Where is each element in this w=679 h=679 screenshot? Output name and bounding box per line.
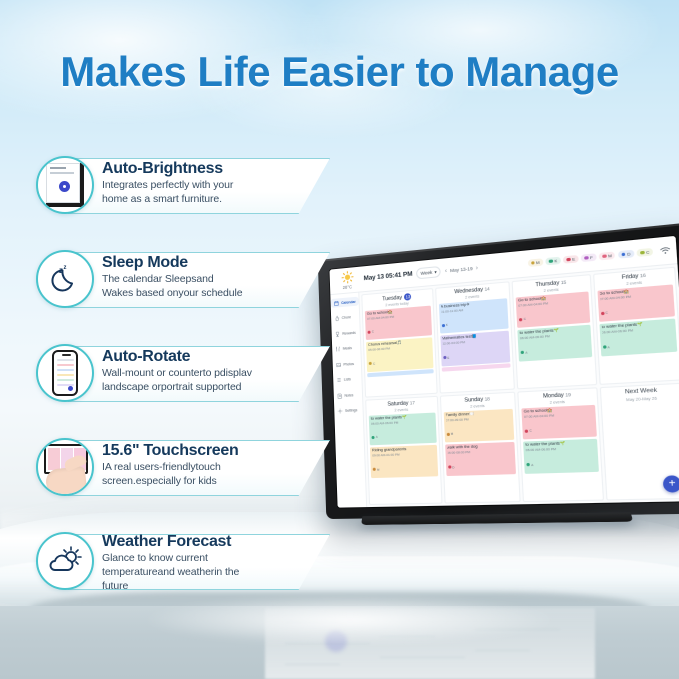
svg-text:z: z	[64, 265, 67, 271]
member-color-dot	[585, 256, 589, 260]
event-assignee: M	[446, 432, 453, 436]
day-events: Go to school🏫07:00 AM-04:00 PMCto water …	[597, 284, 677, 356]
page-title: Makes Life Easier to Manage	[0, 48, 679, 96]
feature-sleep-mode[interactable]: z z Sleep Mode The calendar Sleepsand Wa…	[30, 246, 330, 340]
gear-icon	[337, 408, 343, 414]
member-initial: M	[536, 260, 540, 266]
feature-title: Weather Forecast	[102, 533, 324, 551]
view-select-label: Week	[420, 270, 432, 276]
list-icon	[336, 377, 342, 383]
event-assignee-dot	[373, 468, 376, 471]
member-chip[interactable]: M	[527, 258, 543, 267]
meal-icon	[335, 346, 341, 352]
event-assignee: D	[448, 465, 455, 469]
current-datetime: May 13 05:41 PM	[364, 271, 413, 283]
member-initial: D	[627, 251, 631, 257]
thumb-icon	[334, 315, 340, 321]
calendar-week-row: Saturday 172 eventsto water the plants🌱0…	[365, 383, 679, 505]
event-assignee-initial: C	[372, 330, 374, 334]
weather-widget[interactable]: 28°C	[334, 270, 360, 291]
day-number: 15	[561, 279, 567, 285]
event-assignee: A	[521, 350, 528, 355]
wifi-icon	[660, 246, 671, 255]
day-number: 14	[484, 286, 489, 292]
member-initial: C	[646, 249, 650, 255]
day-column[interactable]: Tuesday 132 events todayGo to school🏫07:…	[361, 288, 437, 398]
member-color-dot	[567, 258, 571, 262]
event-assignee-initial: A	[525, 350, 527, 354]
event-assignee-dot	[443, 356, 446, 360]
member-color-dot	[531, 261, 535, 265]
calendar-app: 28°C May 13 05:41 PM Week ▾ ‹ May 13-19 …	[329, 236, 679, 508]
sidebar-item-photos[interactable]: Photos	[333, 359, 361, 370]
reflection-line	[285, 664, 340, 665]
event-assignee-dot	[519, 318, 523, 322]
phone-rotate-icon	[36, 344, 94, 402]
day-events: Go to school🏫07:00 AM-04:00 PMCto water …	[516, 291, 592, 361]
event-card[interactable]: to water the plants🌱06:00 AM-06:00 PMA	[599, 318, 677, 356]
event-assignee-initial: A	[531, 462, 533, 466]
event-assignee: C	[525, 429, 532, 434]
event-assignee-initial: M	[451, 432, 454, 436]
feature-title: Auto-Brightness	[102, 160, 324, 178]
event-assignee: K	[441, 323, 448, 328]
member-chip[interactable]: K	[545, 256, 560, 265]
member-chip[interactable]: E	[563, 255, 579, 264]
event-assignee-initial: A	[376, 435, 378, 439]
event-assignee: A	[526, 462, 533, 467]
event-card[interactable]: Go to school🏫07:00 AM-04:00 PMC	[516, 291, 590, 328]
day-column[interactable]: Saturday 172 eventsto water the plants🌱0…	[365, 396, 442, 505]
event-card[interactable]: to water the plants🌱06:00 AM-06:00 PMA	[523, 439, 598, 474]
event-assignee: A	[371, 435, 377, 439]
member-color-dot	[602, 254, 606, 258]
day-events: Go to school🏫07:00 AM-04:00 PMCto water …	[521, 404, 598, 473]
day-events: Go to school🏫07:00 AM-04:00 PMCChorus re…	[365, 305, 433, 377]
sun-icon	[341, 271, 354, 285]
sidebar-item-rewards[interactable]: Rewards	[332, 327, 360, 338]
event-assignee: C	[519, 317, 526, 322]
day-column[interactable]: Friday 162 eventsGo to school🏫07:00 AM-0…	[592, 267, 679, 385]
sidebar-item-label: Notes	[344, 393, 353, 398]
day-number: 16	[640, 273, 646, 279]
feature-title: 15.6" Touchscreen	[102, 442, 324, 460]
feature-desc-line: The calendar Sleepsand	[102, 273, 324, 286]
event-assignee-dot	[371, 436, 374, 439]
feature-desc-line: home as a smart furniture.	[102, 193, 324, 206]
member-initial: F	[590, 255, 593, 261]
sidebar-item-label: Meals	[343, 346, 352, 351]
date-range-label: May 13-19	[450, 266, 473, 273]
day-column[interactable]: Sunday 182 eventsFamily dinner🍽️07:00-09…	[439, 392, 520, 504]
event-assignee-dot	[600, 311, 604, 315]
event-card[interactable]: walk with the dog06:00-08:00 PMD	[445, 442, 516, 476]
event-card[interactable]: A business trip✈01:00-11:00 AMK	[438, 298, 508, 334]
feature-desc-line: Wakes based onyour schedule	[102, 287, 324, 300]
next-week-button[interactable]: ›	[476, 265, 478, 271]
today-badge: 13	[404, 293, 411, 301]
event-assignee-initial: C	[605, 311, 608, 316]
day-number: 19	[565, 392, 571, 398]
feature-weather-forecast[interactable]: Weather Forecast Glance to know current …	[30, 528, 330, 622]
member-initial: K	[554, 258, 557, 264]
date-range-nav: ‹ May 13-19 ›	[445, 265, 478, 274]
event-assignee-dot	[448, 465, 451, 468]
event-assignee: C	[600, 311, 608, 316]
view-select[interactable]: Week ▾	[416, 266, 441, 279]
sidebar-item-settings[interactable]: Settings	[334, 405, 363, 415]
event-assignee-dot	[526, 463, 530, 467]
member-color-dot	[621, 252, 625, 256]
note-icon	[337, 392, 343, 398]
photo-icon	[336, 361, 342, 367]
sidebar-item-notes[interactable]: Notes	[334, 390, 363, 401]
feature-auto-rotate[interactable]: Auto-Rotate Wall-mount or counterto pdis…	[30, 340, 330, 434]
feature-desc-line: screen.especially for kids	[102, 475, 324, 488]
event-assignee-dot	[446, 432, 449, 435]
sidebar-item-label: Settings	[345, 408, 357, 413]
event-assignee-initial: D	[452, 465, 454, 469]
feature-desc-line: temperatureand weatherin the	[102, 566, 324, 579]
event-card[interactable]: Mathematics test📘02:00-04:00 PME	[440, 330, 511, 366]
trophy-icon	[334, 330, 340, 336]
event-assignee: E	[443, 355, 450, 360]
event-card[interactable]: Riding grandparents09:00 AM-01:00 PMM	[370, 445, 438, 478]
event-card[interactable]: to water the plants🌱06:00 AM-06:00 PMA	[369, 412, 437, 446]
event-assignee-initial: M	[377, 467, 380, 471]
event-card[interactable]: to water the plants🌱06:00 AM-06:00 PMA	[517, 325, 591, 362]
day-column[interactable]: Wednesday 142 eventsA business trip✈01:0…	[435, 281, 515, 393]
feature-desc-line: IA real users-friendlytouch	[102, 461, 324, 474]
feature-desc-line: future	[102, 580, 324, 593]
sidebar-item-label: Rewards	[342, 330, 356, 335]
event-assignee-dot	[602, 345, 606, 349]
event-assignee-dot	[369, 362, 372, 365]
hand-touch-icon	[36, 438, 94, 496]
event-card[interactable]: Chorus rehearsal🎵05:00-06:00 PMC	[366, 337, 433, 372]
event-card[interactable]: Go to school🏫07:00 AM-04:00 PMC	[521, 404, 596, 439]
feature-list: Auto-Brightness Integrates perfectly wit…	[30, 152, 330, 622]
event-assignee: M	[373, 467, 380, 471]
day-column[interactable]: Thursday 152 eventsGo to school🏫07:00 AM…	[512, 274, 597, 389]
feature-title: Auto-Rotate	[102, 348, 324, 366]
app-body: CalendarChoreRewardsMealsPhotosListsNote…	[330, 264, 679, 507]
tablet-screen[interactable]: 28°C May 13 05:41 PM Week ▾ ‹ May 13-19 …	[329, 236, 679, 508]
add-event-button[interactable]: +	[663, 475, 679, 492]
prev-week-button[interactable]: ‹	[445, 268, 447, 274]
feature-desc-line: Wall-mount or counterto pdisplav	[102, 367, 324, 380]
calendar-grid: Tuesday 132 events todayGo to school🏫07:…	[359, 264, 679, 507]
svg-text:z: z	[59, 266, 63, 275]
event-assignee-initial: A	[607, 345, 610, 349]
feature-desc-line: Integrates perfectly with your	[102, 179, 324, 192]
day-number: 17	[410, 400, 415, 405]
tablet-device: 28°C May 13 05:41 PM Week ▾ ‹ May 13-19 …	[318, 222, 679, 519]
sidebar-item-label: Calendar	[341, 299, 356, 304]
event-card[interactable]: Go to school🏫07:00 AM-04:00 PMC	[597, 284, 675, 322]
event-assignee-initial: C	[529, 429, 532, 433]
day-number: 18	[484, 396, 490, 402]
sidebar-item-label: Lists	[344, 377, 351, 381]
member-chip[interactable]: C	[637, 248, 654, 258]
member-color-dot	[549, 259, 553, 263]
sidebar-item-label: Photos	[343, 361, 354, 366]
event-assignee-initial: C	[373, 361, 375, 365]
event-assignee-dot	[441, 324, 444, 328]
day-events: Family dinner🍽️07:00-09:00 PMMwalk with …	[443, 408, 516, 475]
event-assignee-dot	[525, 429, 529, 433]
sidebar-item-label: Chore	[342, 315, 351, 320]
event-time: 09:00 AM-01:00 PM	[372, 451, 435, 457]
chevron-down-icon: ▾	[434, 269, 437, 275]
sun-cloud-icon	[36, 532, 94, 590]
member-initial: M	[608, 253, 612, 259]
member-initial: E	[572, 256, 575, 262]
day-column[interactable]: Monday 192 eventsGo to school🏫07:00 AM-0…	[517, 387, 603, 502]
event-assignee-initial: C	[523, 317, 526, 321]
feature-touchscreen[interactable]: 15.6" Touchscreen IA real users-friendly…	[30, 434, 330, 528]
event-assignee-dot	[368, 330, 371, 333]
event-assignee: A	[602, 345, 609, 350]
moon-sleep-icon: z z	[36, 250, 94, 308]
event-time: 06:00-08:00 PM	[447, 449, 513, 456]
event-card[interactable]: Family dinner🍽️07:00-09:00 PMM	[443, 408, 514, 443]
sidebar-item-meals[interactable]: Meals	[332, 343, 360, 354]
feature-desc-line: landscape orportrait supported	[102, 381, 324, 394]
calendar-icon	[333, 300, 339, 306]
day-header: Monday 192 events	[521, 391, 595, 406]
feature-desc-line: Glance to know current	[102, 552, 324, 565]
sidebar-item-calendar[interactable]: Calendar	[330, 297, 358, 308]
reflection-line	[380, 657, 465, 658]
smart-display-icon	[36, 156, 94, 214]
day-header: Saturday 172 events	[368, 399, 435, 413]
member-chip[interactable]: D	[618, 249, 634, 259]
temperature-value: 28°C	[343, 284, 353, 290]
sidebar-item-lists[interactable]: Lists	[333, 374, 361, 385]
reflection-line	[475, 650, 530, 651]
tablet-bezel: 28°C May 13 05:41 PM Week ▾ ‹ May 13-19 …	[318, 222, 679, 519]
event-assignee-initial: K	[446, 323, 448, 327]
day-events: A business trip✈01:00-11:00 AMKMathemati…	[438, 298, 510, 372]
sidebar-item-chore[interactable]: Chore	[331, 312, 359, 323]
member-color-dot	[640, 251, 644, 255]
feature-auto-brightness[interactable]: Auto-Brightness Integrates perfectly wit…	[30, 152, 330, 246]
event-assignee-initial: E	[447, 355, 449, 359]
event-assignee-dot	[521, 351, 525, 355]
feature-title: Sleep Mode	[102, 254, 324, 272]
event-card[interactable]: Go to school🏫07:00 AM-04:00 PMC	[365, 305, 432, 340]
day-header: Sunday 182 events	[443, 395, 513, 410]
event-assignee: C	[369, 361, 375, 365]
day-events: to water the plants🌱06:00 AM-06:00 PMARi…	[369, 412, 438, 478]
member-chip[interactable]: F	[581, 253, 596, 262]
member-chip[interactable]: M	[599, 251, 616, 261]
event-assignee: C	[368, 330, 374, 334]
member-filter-list: MKEFMDC	[527, 248, 653, 268]
